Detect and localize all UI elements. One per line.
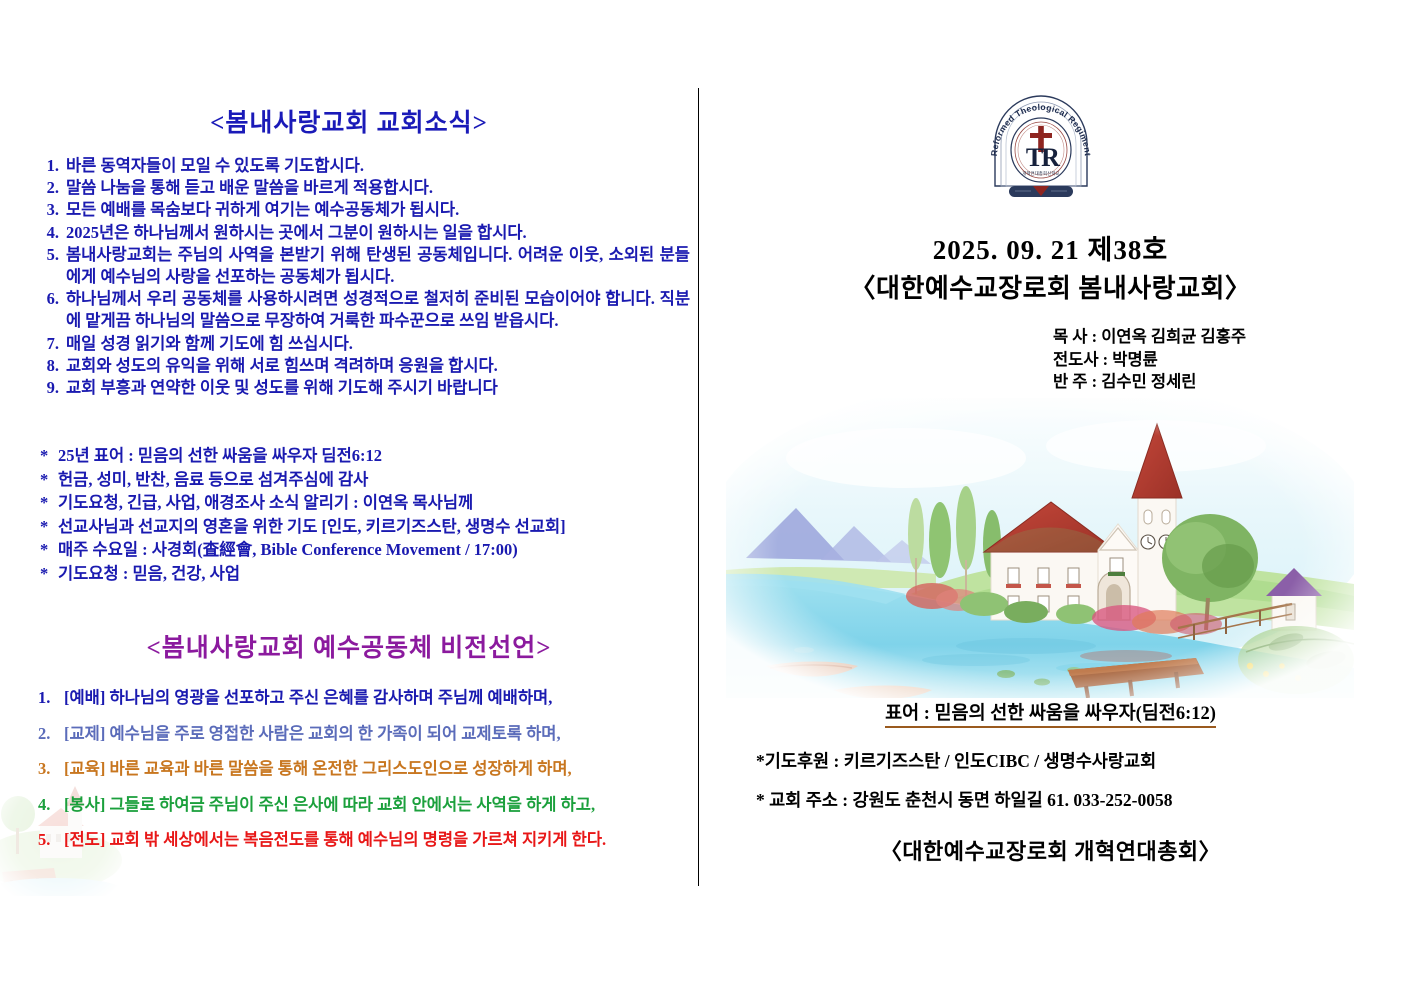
staff-roster: 목 사 : 이연옥 김희균 김홍주 전도사 : 박명륜 반 주 : 김수민 정세… (1053, 326, 1383, 394)
list-item-number: 2. (38, 716, 64, 752)
staff-line-pastors: 목 사 : 이연옥 김희균 김홍주 (1053, 326, 1383, 349)
list-item: *매주 수요일 : 사경회(査經會, Bible Conference Move… (40, 538, 690, 562)
list-item: 2. 말씀 나눔을 통해 듣고 배운 말씀을 바르게 적용합시다. (40, 177, 690, 199)
staff-line-accompanist: 반 주 : 김수민 정세린 (1053, 371, 1383, 394)
list-item-text: [전도] 교회 밖 세상에서는 복음전도를 통해 예수님의 명령을 가르쳐 지키… (64, 822, 606, 858)
list-item-text: [교제] 예수님을 주로 영접한 사람은 교회의 한 가족이 되어 교제토록 하… (64, 716, 561, 752)
denomination-footer: 〈대한예수교장로회 개혁연대총회〉 (698, 834, 1403, 866)
list-item: 5. [전도] 교회 밖 세상에서는 복음전도를 통해 예수님의 명령을 가르쳐… (38, 822, 698, 858)
list-item-number: 9. (40, 377, 66, 399)
list-item-text: 하나님께서 우리 공동체를 사용하시려면 성경적으로 철저히 준비된 모습이어야… (66, 288, 690, 332)
church-news-list: 1. 바른 동역자들이 모일 수 있도록 기도합시다. 2. 말씀 나눔을 통해… (40, 155, 690, 399)
rtr-seminary-emblem-icon: RTR 개혁연대총회신학교 Reformed Theological Regim… (983, 86, 1099, 206)
list-item: 3. 모든 예배를 목숨보다 귀하게 여기는 예수공동체가 됩시다. (40, 199, 690, 221)
church-name-heading: 〈대한예수교장로회 봄내사랑교회〉 (698, 268, 1403, 305)
list-item-number: 7. (40, 333, 66, 355)
list-item: *헌금, 성미, 반찬, 음료 등으로 섬겨주심에 감사 (40, 468, 690, 492)
list-item-text: 25년 표어 : 믿음의 선한 싸움을 싸우자 딤전6:12 (58, 446, 382, 465)
asterisk-bullet: * (40, 515, 58, 539)
list-item-number: 8. (40, 355, 66, 377)
list-item-number: 6. (40, 288, 66, 310)
vision-declaration-title: <봄내사랑교회 예수공동체 비전선언> (0, 628, 698, 664)
list-item: 5. 봄내사랑교회는 주님의 사역을 본받기 위해 탄생된 공동체입니다. 어려… (40, 244, 690, 288)
list-item-text: [예배] 하나님의 영광을 선포하고 주신 은혜를 감사하며 주님께 예배하며, (64, 680, 552, 716)
list-item: 2. [교제] 예수님을 주로 영접한 사람은 교회의 한 가족이 되어 교제토… (38, 716, 698, 752)
year-slogan-text: 표어 : 믿음의 선한 싸움을 싸우자(딤전6:12) (885, 704, 1216, 728)
vision-declaration-list: 1. [예배] 하나님의 영광을 선포하고 주신 은혜를 감사하며 주님께 예배… (38, 680, 698, 858)
asterisk-bullet: * (40, 468, 58, 492)
list-item-text: 기도요청 : 믿음, 건강, 사업 (58, 564, 240, 583)
list-item-number: 2. (40, 177, 66, 199)
list-item: *25년 표어 : 믿음의 선한 싸움을 싸우자 딤전6:12 (40, 444, 690, 468)
list-item: 9. 교회 부흥과 연약한 이웃 및 성도를 위해 기도해 주시기 바랍니다 (40, 377, 690, 399)
list-item-number: 5. (38, 822, 64, 858)
svg-text:개혁연대총회신학교: 개혁연대총회신학교 (1022, 170, 1059, 177)
left-column: <봄내사랑교회 교회소식> 1. 바른 동역자들이 모일 수 있도록 기도합시다… (0, 0, 698, 992)
prayer-support-line: *기도후원 : 키르기즈스탄 / 인도CIBC / 생명수사랑교회 (756, 748, 1396, 773)
list-item-text: 교회 부흥과 연약한 이웃 및 성도를 위해 기도해 주시기 바랍니다 (66, 377, 690, 399)
announcement-notes-list: *25년 표어 : 믿음의 선한 싸움을 싸우자 딤전6:12 *헌금, 성미,… (40, 444, 690, 586)
church-address-line: * 교회 주소 : 강원도 춘천시 동면 하일길 61. 033-252-005… (756, 787, 1396, 812)
church-bulletin-page: <봄내사랑교회 교회소식> 1. 바른 동역자들이 모일 수 있도록 기도합시다… (0, 0, 1403, 992)
list-item: 4. [봉사] 그들로 하여금 주님이 주신 은사에 따라 교회 안에서는 사역… (38, 787, 698, 823)
list-item-text: 매일 성경 읽기와 함께 기도에 힘 쓰십시다. (66, 333, 690, 355)
list-item-number: 5. (40, 244, 66, 266)
list-item-number: 4. (40, 222, 66, 244)
list-item: *기도요청 : 믿음, 건강, 사업 (40, 562, 690, 586)
list-item: *선교사님과 선교지의 영혼을 위한 기도 [인도, 키르기즈스탄, 생명수 선… (40, 515, 690, 539)
asterisk-bullet: * (40, 444, 58, 468)
list-item-number: 1. (40, 155, 66, 177)
list-item-text: 헌금, 성미, 반찬, 음료 등으로 섬겨주심에 감사 (58, 470, 368, 489)
list-item-text: 매주 수요일 : 사경회(査經會, Bible Conference Movem… (58, 540, 518, 559)
asterisk-bullet: * (40, 491, 58, 515)
list-item-text: 봄내사랑교회는 주님의 사역을 본받기 위해 탄생된 공동체입니다. 어려운 이… (66, 244, 690, 288)
church-news-title: <봄내사랑교회 교회소식> (0, 103, 698, 139)
list-item-text: 선교사님과 선교지의 영혼을 위한 기도 [인도, 키르기즈스탄, 생명수 선교… (58, 517, 566, 536)
year-slogan: 표어 : 믿음의 선한 싸움을 싸우자(딤전6:12) (698, 699, 1403, 725)
list-item-text: 말씀 나눔을 통해 듣고 배운 말씀을 바르게 적용합시다. (66, 177, 690, 199)
list-item-text: 교회와 성도의 유익을 위해 서로 힘쓰며 격려하며 응원을 합시다. (66, 355, 690, 377)
list-item: 1. [예배] 하나님의 영광을 선포하고 주신 은혜를 감사하며 주님께 예배… (38, 680, 698, 716)
list-item: 3. [교육] 바른 교육과 바른 말씀을 통해 온전한 그리스도인으로 성장하… (38, 751, 698, 787)
list-item-text: [봉사] 그들로 하여금 주님이 주신 은사에 따라 교회 안에서는 사역을 하… (64, 787, 595, 823)
list-item-text: 바른 동역자들이 모일 수 있도록 기도합시다. (66, 155, 690, 177)
staff-line-evangelist: 전도사 : 박명륜 (1053, 349, 1383, 372)
watercolor-lakeside-church-illustration (726, 398, 1354, 698)
list-item: 6. 하나님께서 우리 공동체를 사용하시려면 성경적으로 철저히 준비된 모습… (40, 288, 690, 332)
list-item-number: 4. (38, 787, 64, 823)
list-item: *기도요청, 긴급, 사업, 애경조사 소식 알리기 : 이연옥 목사님께 (40, 491, 690, 515)
list-item: 7. 매일 성경 읽기와 함께 기도에 힘 쓰십시다. (40, 333, 690, 355)
list-item-text: [교육] 바른 교육과 바른 말씀을 통해 온전한 그리스도인으로 성장하게 하… (64, 751, 572, 787)
list-item-number: 3. (40, 199, 66, 221)
right-column: RTR 개혁연대총회신학교 Reformed Theological Regim… (698, 0, 1403, 992)
issue-date-and-number: 2025. 09. 21 제38호 (698, 228, 1403, 267)
list-item-text: 2025년은 하나님께서 원하시는 곳에서 그분이 원하시는 일을 합시다. (66, 222, 690, 244)
list-item-text: 기도요청, 긴급, 사업, 애경조사 소식 알리기 : 이연옥 목사님께 (58, 493, 473, 512)
asterisk-bullet: * (40, 562, 58, 586)
list-item-text: 모든 예배를 목숨보다 귀하게 여기는 예수공동체가 됩시다. (66, 199, 690, 221)
asterisk-bullet: * (40, 538, 58, 562)
list-item-number: 1. (38, 680, 64, 716)
list-item-number: 3. (38, 751, 64, 787)
list-item: 1. 바른 동역자들이 모일 수 있도록 기도합시다. (40, 155, 690, 177)
list-item: 8. 교회와 성도의 유익을 위해 서로 힘쓰며 격려하며 응원을 합시다. (40, 355, 690, 377)
list-item: 4. 2025년은 하나님께서 원하시는 곳에서 그분이 원하시는 일을 합시다… (40, 222, 690, 244)
